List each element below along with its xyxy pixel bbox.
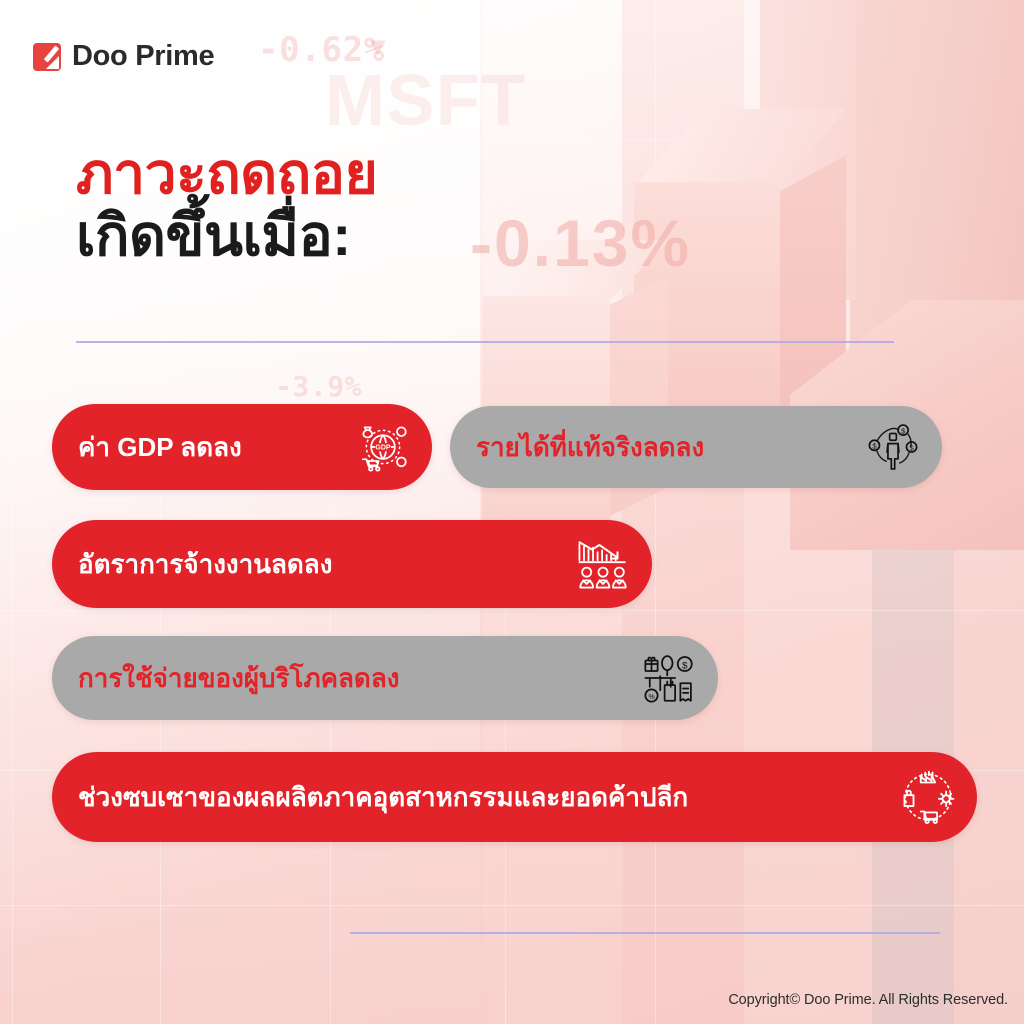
infographic-canvas: -0.62% ▼ MSFT -0.13% -3.9% Doo Prime ภาว… bbox=[0, 0, 1024, 1024]
grid-line bbox=[0, 610, 1024, 611]
bg-ticker-symbol: MSFT bbox=[325, 60, 527, 142]
doo-prime-mark-icon bbox=[33, 43, 61, 71]
headline-line-2: เกิดขึ้นเมื่อ: bbox=[76, 205, 377, 267]
list-item[interactable]: ค่า GDP ลดลง GDP bbox=[52, 404, 432, 490]
page-title: ภาวะถดถอย เกิดขึ้นเมื่อ: bbox=[76, 143, 377, 267]
list-item-label: ช่วงซบเซาของผลผลิตภาคอุตสาหกรรมและยอดค้า… bbox=[78, 783, 887, 812]
gdp-globe-icon: GDP bbox=[352, 416, 414, 478]
svg-text:%: % bbox=[648, 694, 654, 701]
bg-small-percent: -3.9% bbox=[275, 370, 362, 403]
headline-divider bbox=[76, 341, 894, 343]
grid-line bbox=[12, 0, 13, 1024]
headline-line-1: ภาวะถดถอย bbox=[76, 143, 377, 205]
industrial-retail-icon bbox=[897, 766, 959, 828]
bg-ticker-arrow-icon: ▼ bbox=[370, 32, 386, 62]
list-item[interactable]: รายได้ที่แท้จริงลดลง $ $ $ bbox=[450, 406, 942, 488]
brand-logo-text: Doo Prime bbox=[72, 40, 214, 73]
consumer-spending-icon: $ % bbox=[638, 647, 700, 709]
brand-logo[interactable]: Doo Prime bbox=[33, 40, 214, 73]
svg-text:GDP: GDP bbox=[375, 445, 391, 452]
list-item[interactable]: อัตราการจ้างงานลดลง bbox=[52, 520, 652, 608]
income-person-coins-icon: $ $ $ bbox=[862, 416, 924, 478]
list-item[interactable]: การใช้จ่ายของผู้บริโภคลดลง $ bbox=[52, 636, 718, 720]
list-item-label: รายได้ที่แท้จริงลดลง bbox=[476, 433, 852, 462]
list-item-label: อัตราการจ้างงานลดลง bbox=[78, 550, 562, 579]
copyright-text: Copyright© Doo Prime. All Rights Reserve… bbox=[728, 992, 1008, 1008]
background-block-lower-step bbox=[470, 240, 710, 540]
svg-text:$: $ bbox=[682, 660, 688, 671]
list-item-label: ค่า GDP ลดลง bbox=[78, 433, 342, 462]
footer-divider bbox=[350, 932, 940, 934]
grid-line bbox=[0, 905, 1024, 906]
employment-decline-icon bbox=[572, 533, 634, 595]
bg-big-percent: -0.13% bbox=[470, 205, 691, 281]
list-item-label: การใช้จ่ายของผู้บริโภคลดลง bbox=[78, 664, 628, 693]
list-item[interactable]: ช่วงซบเซาของผลผลิตภาคอุตสาหกรรมและยอดค้า… bbox=[52, 752, 977, 842]
